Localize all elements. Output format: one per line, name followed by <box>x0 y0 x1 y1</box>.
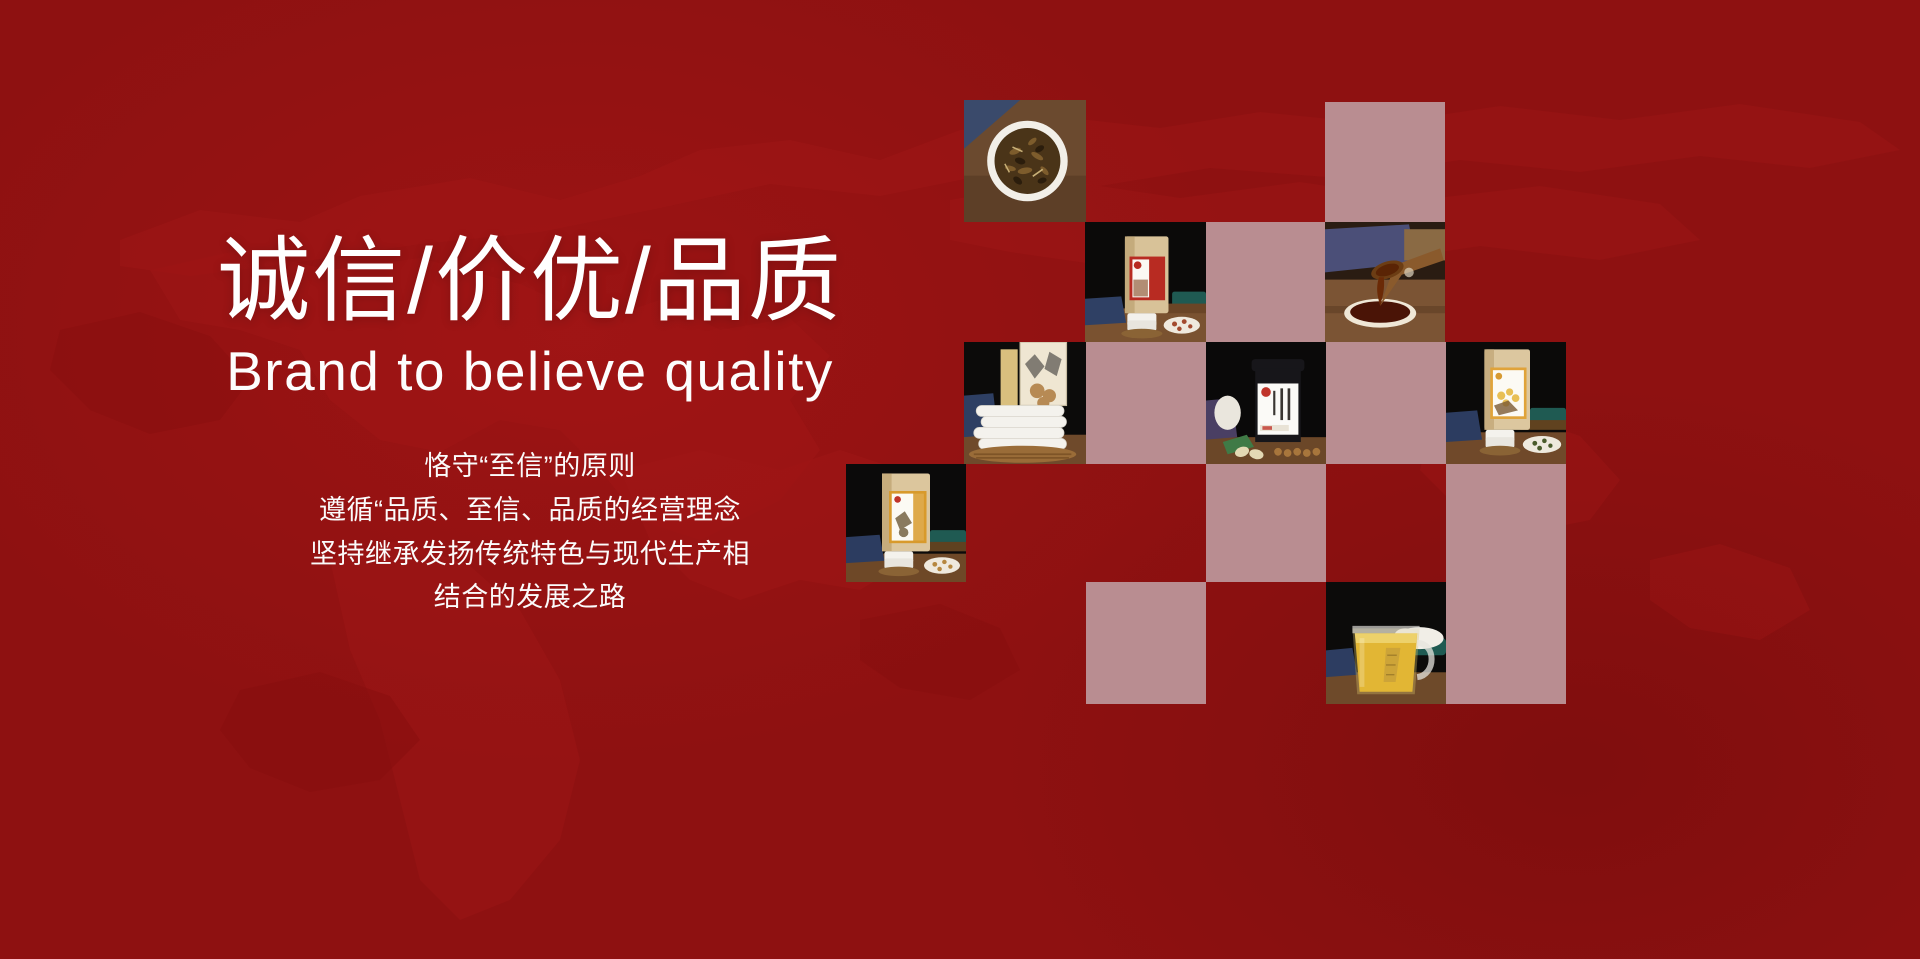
brand-statement-line-4: 结合的发展之路 <box>310 576 750 620</box>
tint-block-bottom-right <box>1446 582 1566 704</box>
page-subtitle: Brand to believe quality <box>226 341 834 402</box>
loquat-paste-jar-photo <box>1206 342 1326 464</box>
tint-block-mid-right <box>1326 342 1446 464</box>
brand-statement-line-3: 坚持继承发扬传统特色与现代生产相 <box>310 533 750 577</box>
promo-banner: 诚信/价优/品质 Brand to believe quality 恪守“至信”… <box>0 0 1920 959</box>
honey-spoon-photo <box>1325 222 1445 342</box>
clove-tea-pack-photo <box>846 464 966 582</box>
tint-block-center <box>1086 342 1206 464</box>
tint-block-mid-left <box>1206 222 1326 342</box>
loose-tea-bowl-photo-artwork <box>964 100 1086 222</box>
brand-statement: 恪守“至信”的原则 遵循“品质、至信、品质的经营理念 坚持继承发扬传统特色与现代… <box>310 445 750 620</box>
honey-spoon-photo-artwork <box>1325 222 1445 342</box>
tint-block-top-right <box>1325 102 1445 222</box>
clove-tea-pack-photo-artwork <box>846 464 966 582</box>
red-bean-tea-pack-photo-artwork <box>1085 222 1206 342</box>
brewed-tea-glass-photo-artwork <box>1326 582 1446 704</box>
tea-sachets-stack-photo <box>964 342 1086 464</box>
page-title: 诚信/价优/品质 <box>217 232 843 331</box>
brand-statement-line-2: 遵循“品质、至信、品质的经营理念 <box>310 489 750 533</box>
tint-block-lower-left <box>1206 464 1326 582</box>
loose-tea-bowl-photo <box>964 100 1086 222</box>
brand-statement-line-1: 恪守“至信”的原则 <box>310 445 750 489</box>
loquat-paste-jar-photo-artwork <box>1206 342 1326 464</box>
tint-block-bottom-left <box>1086 582 1206 704</box>
red-bean-tea-pack-photo <box>1085 222 1206 342</box>
brewed-tea-glass-photo <box>1326 582 1446 704</box>
tea-sachets-stack-photo-artwork <box>964 342 1086 464</box>
chrysanthemum-pack-photo-artwork <box>1446 342 1566 464</box>
tint-block-lower-right <box>1446 464 1566 582</box>
chrysanthemum-pack-photo <box>1446 342 1566 464</box>
